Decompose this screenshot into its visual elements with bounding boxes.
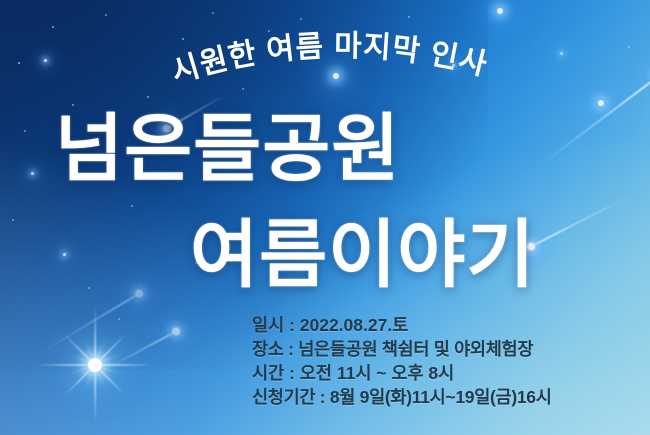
star-dot bbox=[12, 219, 14, 221]
star-dot bbox=[63, 253, 66, 256]
poster-subtitle: 시원한 여름 마지막 인사 bbox=[0, 22, 650, 108]
star-glow-large bbox=[497, 8, 503, 14]
poster-title-line-2: 여름이야기 bbox=[190, 218, 535, 292]
detail-row-date: 일시 : 2022.08.27.토 bbox=[252, 313, 644, 337]
star-dot bbox=[105, 14, 107, 16]
detail-row-application-period: 신청기간 : 8월 9일(화)11시~19일(금)16시 bbox=[252, 385, 644, 409]
star-dot bbox=[88, 287, 90, 289]
poster-title-line-1: 넘은들공원 bbox=[55, 112, 400, 186]
poster-details: 일시 : 2022.08.27.토 장소 : 넘은들공원 책쉼터 및 야외체험장… bbox=[252, 313, 644, 409]
detail-row-place: 장소 : 넘은들공원 책쉼터 및 야외체험장 bbox=[252, 337, 644, 361]
poster-subtitle-text: 시원한 여름 마지막 인사 bbox=[168, 30, 491, 90]
star-dot bbox=[24, 130, 26, 132]
star-dot bbox=[212, 12, 214, 14]
star-dot bbox=[118, 318, 120, 320]
star-dot bbox=[300, 18, 302, 20]
star-dot bbox=[131, 205, 133, 207]
event-poster: 시원한 여름 마지막 인사 넘은들공원 여름이야기 일시 : 2022.08.2… bbox=[0, 0, 650, 435]
star-dot bbox=[408, 16, 410, 18]
star-dot bbox=[31, 172, 34, 175]
detail-row-time: 시간 : 오전 11시 ~ 오후 8시 bbox=[252, 361, 644, 385]
